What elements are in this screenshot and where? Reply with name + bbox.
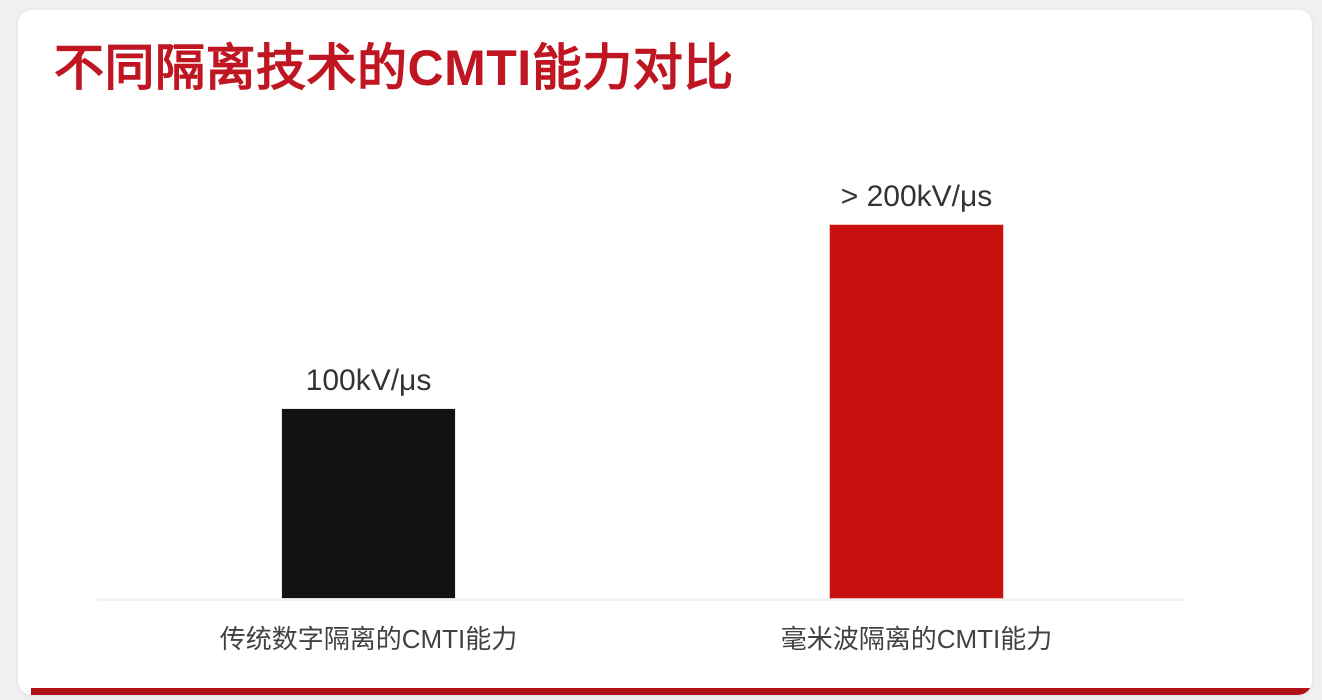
bottom-accent-bar [31,688,1312,695]
bar-value-label-mmwave: > 200kV/μs [770,180,1063,214]
category-label-mmwave: 毫米波隔离的CMTI能力 [740,619,1093,656]
bar-mmwave[interactable] [830,225,1003,598]
bar-value-label-traditional: 100kV/μs [222,364,515,398]
bar-traditional[interactable] [282,409,455,598]
slide-card: 不同隔离技术的CMTI能力对比 100kV/μs 传统数字隔离的CMTI能力 >… [18,10,1312,695]
category-label-traditional: 传统数字隔离的CMTI能力 [192,619,545,656]
bar-chart: 100kV/μs 传统数字隔离的CMTI能力 > 200kV/μs 毫米波隔离的… [18,130,1312,690]
page-title: 不同隔离技术的CMTI能力对比 [54,38,734,98]
x-axis-baseline [97,598,1185,601]
